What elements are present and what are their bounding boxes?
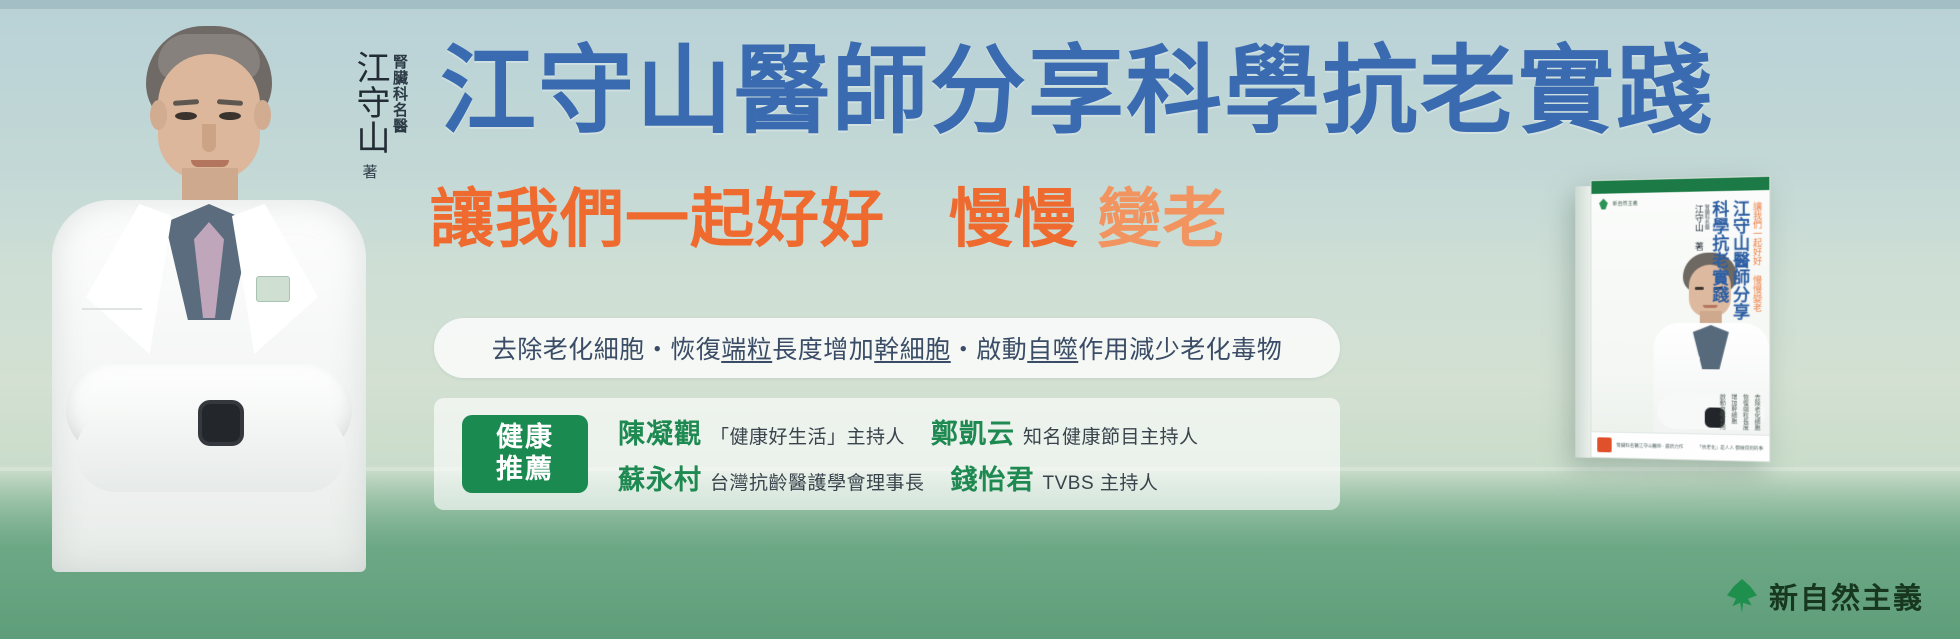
subtitle-part-3: 變老	[1097, 183, 1227, 255]
benefit-term-autophagy: 自噬	[1027, 336, 1078, 364]
author-name-column: 江守山 著	[352, 50, 388, 182]
health-recommendation-badge: 健康 推薦	[462, 415, 588, 493]
book-title-vertical: 科學抗老實踐 江守山醫師分享 讓我們一起好好 慢慢變老	[1710, 199, 1762, 320]
book-cover[interactable]: 新自然主義 科學抗老實踐 江守山醫師分享 讓我們一起好好 慢慢變老	[1591, 176, 1771, 463]
endorser-role: TVBS 主持人	[1043, 468, 1159, 495]
book-title-column-1: 江守山醫師分享	[1730, 200, 1748, 320]
endorser-name: 錢怡君	[951, 458, 1035, 497]
publisher-name: 新自然主義	[1769, 575, 1924, 617]
portrait-name-badge	[256, 276, 290, 302]
book-portrait-eye-left	[1695, 287, 1704, 290]
endorser-role: 知名健康節目主持人	[1023, 422, 1199, 449]
author-suffix: 著	[363, 161, 378, 182]
benefit-seg-1: 去除老化細胞・恢復	[492, 336, 722, 364]
endorsement-list: 陳凝觀 「健康好生活」主持人 鄭凱云 知名健康節目主持人 蘇永村 台灣抗齡醫護學…	[618, 412, 1199, 497]
benefits-pill: 去除老化細胞・恢復端粒長度增加幹細胞・啟動自噬作用減少老化毒物	[434, 318, 1340, 378]
leaf-icon	[1727, 579, 1757, 613]
book-brand-label: 新自然主義	[1613, 200, 1638, 207]
book-tagline: 讓我們一起好好 慢慢變老	[1751, 201, 1761, 312]
portrait-mouth	[191, 160, 229, 167]
portrait-pocket	[82, 308, 142, 310]
book-bottom-bar: 腎臟科名醫江守山醫師 ‧ 最新力作 「抗老化」是人人 都做得到的事	[1591, 431, 1769, 461]
benefit-seg-3: ・啟動	[951, 336, 1028, 364]
author-kicker: 腎臟科名醫	[392, 50, 407, 134]
book-author-kicker: 腎臟科名醫	[1704, 204, 1709, 250]
benefit-term-telomere: 端粒	[721, 336, 772, 364]
book-author-block: 腎臟科名醫 江守山 著	[1693, 204, 1708, 250]
subtitle: 讓我們一起好好 慢慢 變老	[430, 168, 1227, 260]
book-bullet: 去除老化細胞	[1752, 394, 1760, 431]
badge-line-2: 推薦	[496, 454, 554, 486]
subtitle-part-2: 慢慢	[949, 183, 1079, 255]
book-author-name: 江守山 著	[1693, 205, 1702, 251]
portrait-ear-left	[150, 100, 167, 130]
book-bullet-list: 啟動自噬作用 增加幹細胞 恢復端粒長度 去除老化細胞	[1717, 393, 1759, 430]
benefits-text: 去除老化細胞・恢復端粒長度增加幹細胞・啟動自噬作用減少老化毒物	[492, 330, 1283, 366]
book-bullet: 增加幹細胞	[1728, 394, 1736, 430]
book-ad-banner: 腎臟科名醫 江守山 著 江守山醫師分享科學抗老實踐 讓我們一起好好 慢慢 變老 …	[0, 0, 1960, 639]
publisher-logo[interactable]: 新自然主義	[1727, 575, 1924, 617]
endorser-name: 蘇永村	[618, 458, 702, 497]
endorser-name: 鄭凱云	[931, 412, 1015, 451]
book-top-band	[1591, 177, 1769, 194]
portrait-ear-right	[254, 100, 271, 130]
book-bottom-right-note: 「抗老化」是人人 都做得到的事	[1697, 444, 1763, 451]
endorsement-row: 陳凝觀 「健康好生活」主持人 鄭凱云 知名健康節目主持人	[618, 412, 1199, 451]
page-title: 江守山醫師分享科學抗老實踐	[440, 40, 1714, 144]
book-title-column-2: 科學抗老實踐	[1710, 200, 1728, 303]
author-vertical-block: 腎臟科名醫 江守山 著	[352, 50, 407, 182]
benefit-seg-2: 長度增加	[772, 336, 874, 364]
benefit-seg-4: 作用減少老化毒物	[1078, 336, 1282, 364]
endorsements-panel: 健康 推薦 陳凝觀 「健康好生活」主持人 鄭凱云 知名健康節目主持人 蘇永村 台…	[434, 398, 1340, 510]
book-bottom-note: 腎臟科名醫江守山醫師 ‧ 最新力作	[1616, 442, 1683, 449]
subtitle-part-1: 讓我們一起好好	[430, 183, 885, 255]
leaf-icon	[1599, 199, 1608, 210]
endorser-name: 陳凝觀	[618, 412, 702, 451]
book-bullet: 啟動自噬作用	[1717, 393, 1725, 429]
doctor-portrait-photo	[42, 8, 372, 568]
endorser-role: 「健康好生活」主持人	[710, 422, 905, 449]
endorser-role: 台灣抗齡醫護學會理事長	[710, 468, 925, 495]
portrait-eye-left	[175, 112, 197, 120]
badge-line-1: 健康	[496, 422, 554, 454]
book-brand-row: 新自然主義	[1599, 198, 1638, 210]
benefit-term-stemcell: 幹細胞	[874, 336, 951, 364]
book-bottom-mark-icon	[1597, 437, 1611, 452]
book-bullet: 恢復端粒長度	[1740, 394, 1748, 431]
portrait-wristwatch	[198, 400, 244, 446]
portrait-nose	[202, 124, 216, 152]
book-front-face: 新自然主義 科學抗老實踐 江守山醫師分享 讓我們一起好好 慢慢變老	[1591, 176, 1771, 463]
author-name: 江守山	[352, 50, 388, 155]
portrait-eye-right	[219, 112, 241, 120]
endorsement-row: 蘇永村 台灣抗齡醫護學會理事長 錢怡君 TVBS 主持人	[618, 458, 1199, 497]
